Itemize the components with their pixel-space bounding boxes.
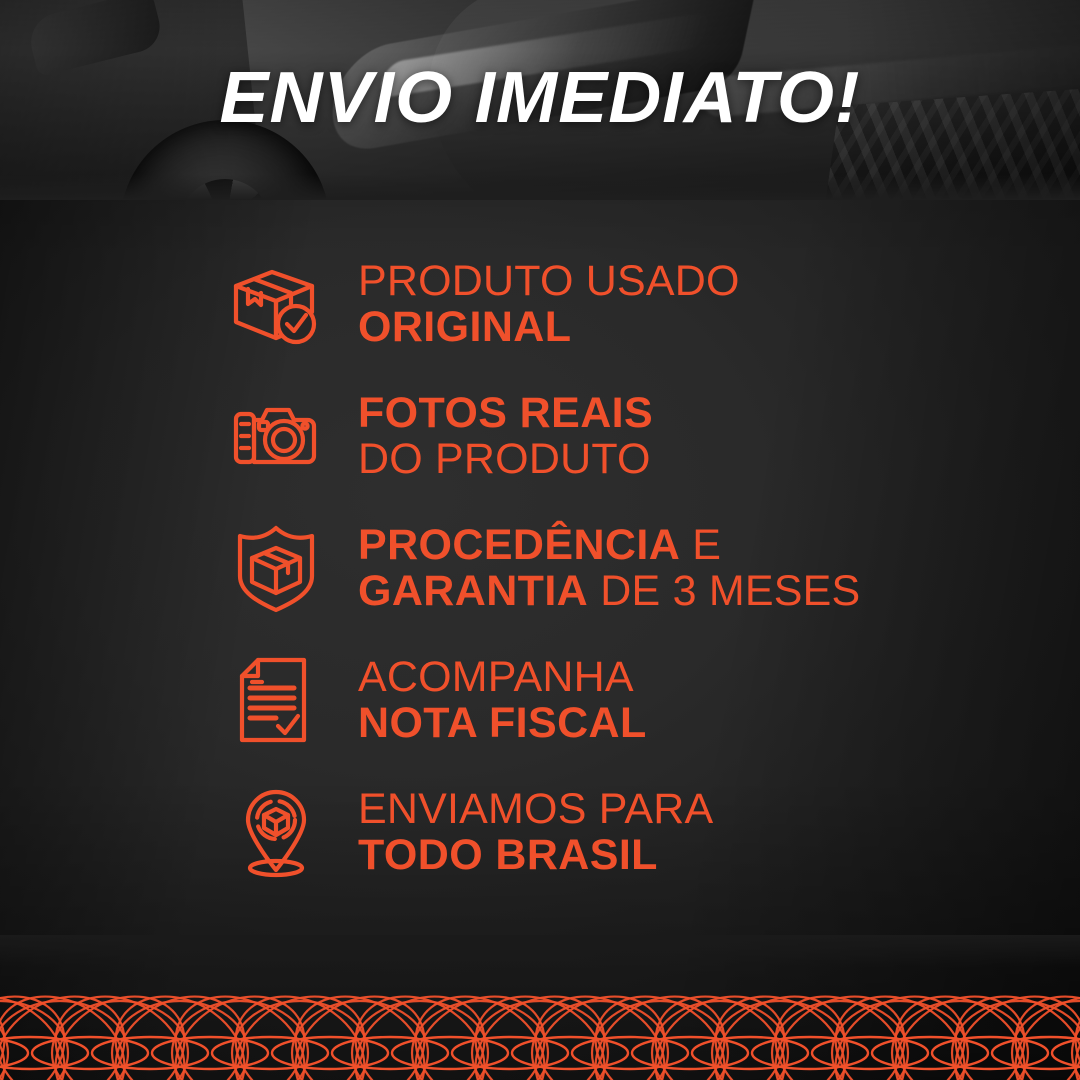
feature-line-2-bold: GARANTIA [358,567,588,615]
feature-line-2: NOTA FISCAL [358,700,647,746]
feature-line-2: TODO BRASIL [358,832,713,878]
guilloche-circles-border [0,935,1080,1080]
feature-text: FOTOS REAIS DO PRODUTO [358,390,653,482]
feature-line-2: ORIGINAL [358,304,740,350]
feature-text: ACOMPANHA NOTA FISCAL [358,654,647,746]
feature-item-todo-brasil: ENVIAMOS PARA TODO BRASIL [0,766,1080,898]
feature-line-2: DO PRODUTO [358,436,653,482]
feature-line-1: PROCEDÊNCIA E [358,522,860,568]
feature-line-1: FOTOS REAIS [358,390,653,436]
feature-text: PROCEDÊNCIA E GARANTIA DE 3 MESES [358,522,860,614]
package-box-check-icon [228,256,324,352]
feature-item-fotos-reais: FOTOS REAIS DO PRODUTO [0,370,1080,502]
feature-line-1-bold: PROCEDÊNCIA [358,521,680,569]
shield-box-icon [228,520,324,616]
location-pin-box-icon [228,784,324,880]
camera-icon [228,388,324,484]
feature-list: PRODUTO USADO ORIGINAL [0,238,1080,898]
feature-line-2-regular: DE 3 MESES [588,567,860,615]
header-banner: ENVIO IMEDIATO! [0,0,1080,200]
page-title: ENVIO IMEDIATO! [0,62,1080,134]
feature-item-procedencia-garantia: PROCEDÊNCIA E GARANTIA DE 3 MESES [0,502,1080,634]
feature-item-produto-usado: PRODUTO USADO ORIGINAL [0,238,1080,370]
feature-item-nota-fiscal: ACOMPANHA NOTA FISCAL [0,634,1080,766]
feature-line-1: ENVIAMOS PARA [358,786,713,832]
promo-poster: ENVIO IMEDIATO! PRODUTO USADO O [0,0,1080,1080]
invoice-document-check-icon [228,652,324,748]
header-fade-divider [0,174,1080,200]
feature-text: PRODUTO USADO ORIGINAL [358,258,740,350]
feature-line-1-regular: E [680,521,721,569]
feature-line-1: ACOMPANHA [358,654,647,700]
feature-line-1: PRODUTO USADO [358,258,740,304]
feature-text: ENVIAMOS PARA TODO BRASIL [358,786,713,878]
feature-line-2: GARANTIA DE 3 MESES [358,568,860,614]
